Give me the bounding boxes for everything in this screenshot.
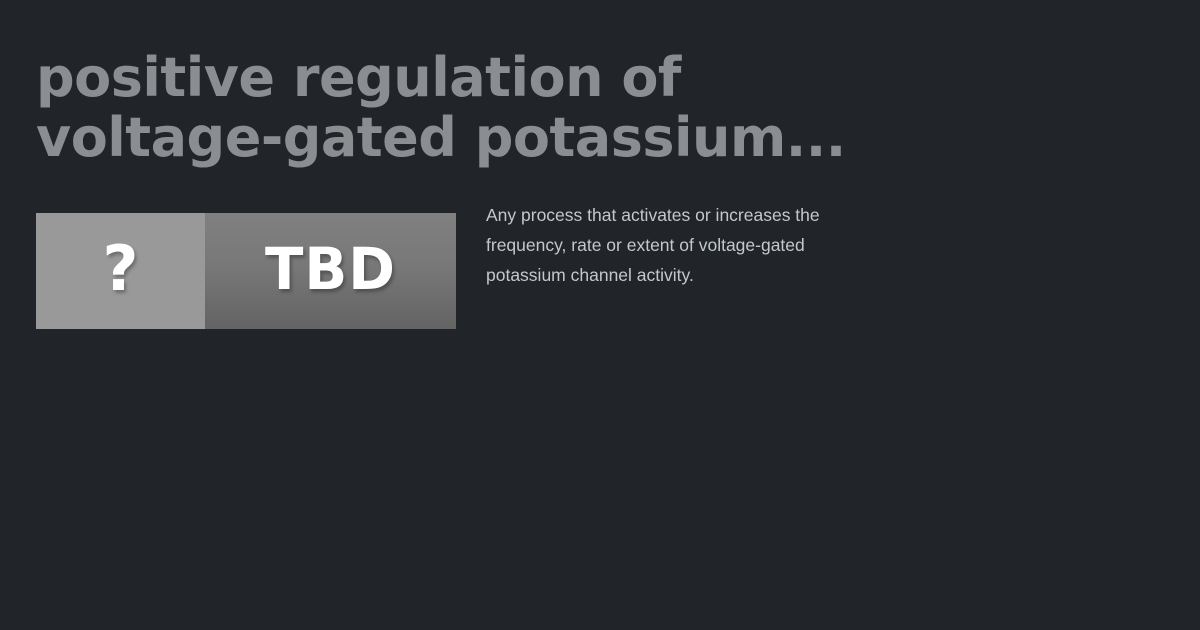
thumbnail-tbd-panel: TBD: [205, 213, 456, 329]
preview-card: positive regulation of voltage-gated pot…: [0, 0, 1200, 630]
description-text: Any process that activates or increases …: [486, 200, 831, 290]
question-mark-icon: ?: [103, 238, 139, 300]
thumbnail-question-panel: ?: [36, 213, 205, 329]
page-title: positive regulation of voltage-gated pot…: [36, 48, 1036, 168]
thumbnail-placeholder[interactable]: ? TBD: [36, 213, 456, 329]
tbd-label: TBD: [265, 240, 396, 298]
